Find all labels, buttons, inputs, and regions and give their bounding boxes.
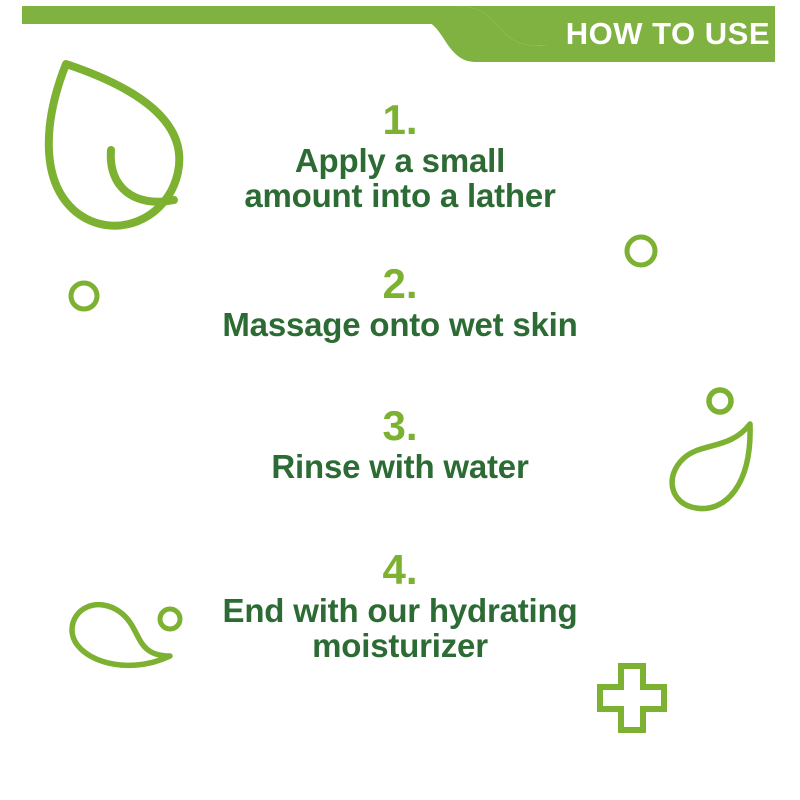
plus-outline-icon (592, 658, 672, 738)
step-item-4: 4. End with our hydrating moisturizer (160, 548, 640, 664)
circle-outline-icon (66, 278, 102, 314)
step-number-1: 1. (160, 98, 640, 142)
how-to-use-infographic: HOW TO USE 1. Apply a small amount into … (0, 0, 800, 800)
droplet-outline-icon (658, 384, 768, 514)
step-text-1-line2: amount into a lather (160, 179, 640, 214)
step-text-2-line1: Massage onto wet skin (160, 308, 640, 343)
step-item-3: 3. Rinse with water (160, 404, 640, 485)
droplet-bubble-icon (709, 390, 731, 412)
step-text-1-line1: Apply a small (160, 144, 640, 179)
step-number-3: 3. (160, 404, 640, 448)
step-number-2: 2. (160, 262, 640, 306)
step-text-4-line2: moisturizer (160, 629, 640, 664)
step-item-2: 2. Massage onto wet skin (160, 262, 640, 343)
droplet-bubble-icon (160, 609, 180, 629)
step-text-3-line1: Rinse with water (160, 450, 640, 485)
step-number-4: 4. (160, 548, 640, 592)
step-text-4-line1: End with our hydrating (160, 594, 640, 629)
step-item-1: 1. Apply a small amount into a lather (160, 98, 640, 214)
leaf-outline-icon (38, 42, 198, 237)
droplet-outline-icon (62, 586, 192, 686)
circle-outline-icon (622, 232, 660, 270)
